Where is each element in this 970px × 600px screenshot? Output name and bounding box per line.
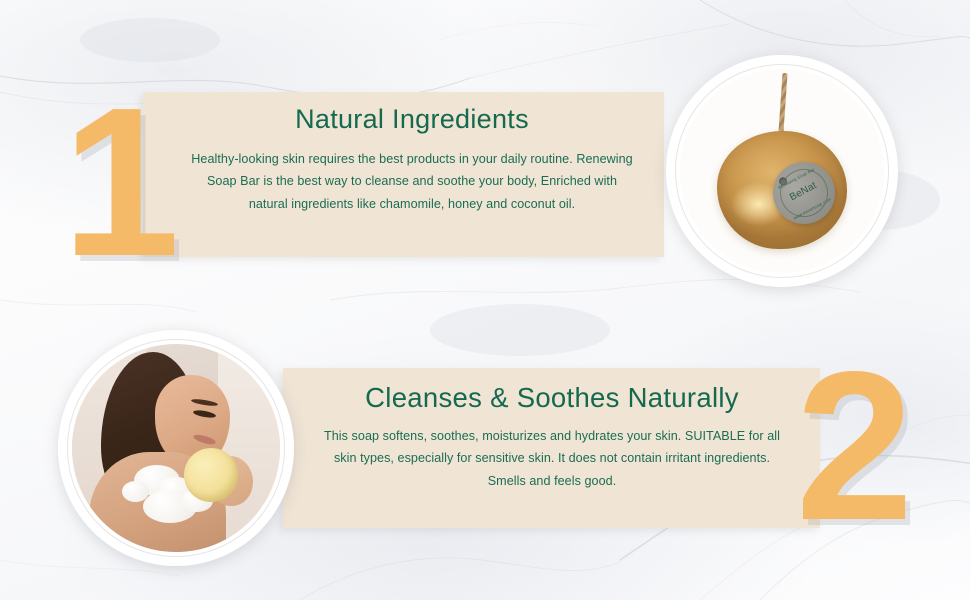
section-2-heading: Cleanses & Soothes Naturally	[318, 382, 786, 414]
section-2-number: 2	[790, 340, 915, 552]
background-wall-right	[218, 344, 280, 552]
infographic-stage: 1 Natural Ingredients Healthy-looking sk…	[0, 0, 970, 600]
section-2-lifestyle-photo	[58, 330, 294, 566]
section-2-text-block: Cleanses & Soothes Naturally This soap s…	[318, 382, 786, 492]
section-1-body: Healthy-looking skin requires the best p…	[186, 148, 638, 215]
soap-photo-inner: Renewing Soap Bar BeNat www.benatsoap.co…	[680, 69, 884, 273]
section-1-text-block: Natural Ingredients Healthy-looking skin…	[186, 104, 638, 215]
shower-photo-inner	[72, 344, 280, 552]
section-1-heading: Natural Ingredients	[186, 104, 638, 135]
section-1-product-photo: Renewing Soap Bar BeNat www.benatsoap.co…	[666, 55, 898, 287]
section-1-number: 1	[62, 76, 172, 288]
section-2-body: This soap softens, soothes, moisturizes …	[318, 425, 786, 492]
